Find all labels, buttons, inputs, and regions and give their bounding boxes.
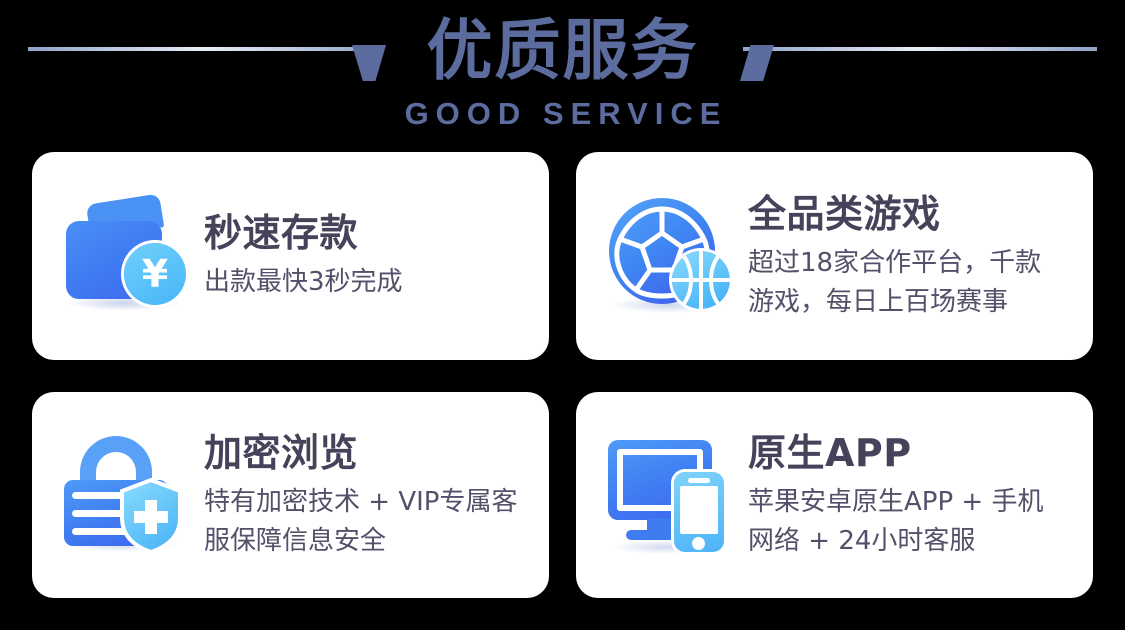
feature-card-grid: ¥ 秒速存款 出款最快3秒完成 bbox=[32, 152, 1093, 598]
phone-speaker-icon bbox=[688, 478, 710, 483]
feature-card-text: 全品类游戏 超过18家合作平台，千款游戏，每日上百场赛事 bbox=[748, 191, 1067, 322]
lock-shield-icon bbox=[62, 430, 192, 560]
page-header: 优质服务 GOOD SERVICE bbox=[0, 0, 1125, 145]
feature-card-encryption[interactable]: 加密浏览 特有加密技术 + VIP专属客服保障信息安全 bbox=[32, 392, 549, 598]
page-title: 优质服务 bbox=[0, 10, 1125, 92]
feature-card-text: 加密浏览 特有加密技术 + VIP专属客服保障信息安全 bbox=[204, 430, 523, 561]
shield-plus-icon bbox=[118, 478, 184, 554]
page-subtitle: GOOD SERVICE bbox=[0, 96, 1125, 132]
card-description: 苹果安卓原生APP + 手机网络 + 24小时客服 bbox=[748, 483, 1067, 561]
soccer-basketball-icon bbox=[606, 191, 736, 321]
card-description: 出款最快3秒完成 bbox=[204, 263, 523, 302]
feature-card-native-app[interactable]: 原生APP 苹果安卓原生APP + 手机网络 + 24小时客服 bbox=[576, 392, 1093, 598]
monitor-phone-icon bbox=[606, 430, 736, 560]
yen-symbol-icon: ¥ bbox=[124, 243, 186, 305]
card-description: 特有加密技术 + VIP专属客服保障信息安全 bbox=[204, 483, 523, 561]
card-title: 全品类游戏 bbox=[748, 191, 1067, 237]
phone-home-button-icon bbox=[692, 537, 705, 550]
basketball-icon bbox=[672, 251, 730, 309]
card-title: 加密浏览 bbox=[204, 430, 523, 476]
phone-screen-icon bbox=[680, 486, 718, 534]
wallet-yen-icon: ¥ bbox=[62, 191, 192, 321]
card-title: 秒速存款 bbox=[204, 210, 523, 256]
feature-card-text: 秒速存款 出款最快3秒完成 bbox=[204, 210, 523, 302]
card-title: 原生APP bbox=[748, 430, 1067, 476]
feature-card-games[interactable]: 全品类游戏 超过18家合作平台，千款游戏，每日上百场赛事 bbox=[576, 152, 1093, 360]
card-description: 超过18家合作平台，千款游戏，每日上百场赛事 bbox=[748, 244, 1067, 322]
feature-card-deposit[interactable]: ¥ 秒速存款 出款最快3秒完成 bbox=[32, 152, 549, 360]
feature-card-text: 原生APP 苹果安卓原生APP + 手机网络 + 24小时客服 bbox=[748, 430, 1067, 561]
